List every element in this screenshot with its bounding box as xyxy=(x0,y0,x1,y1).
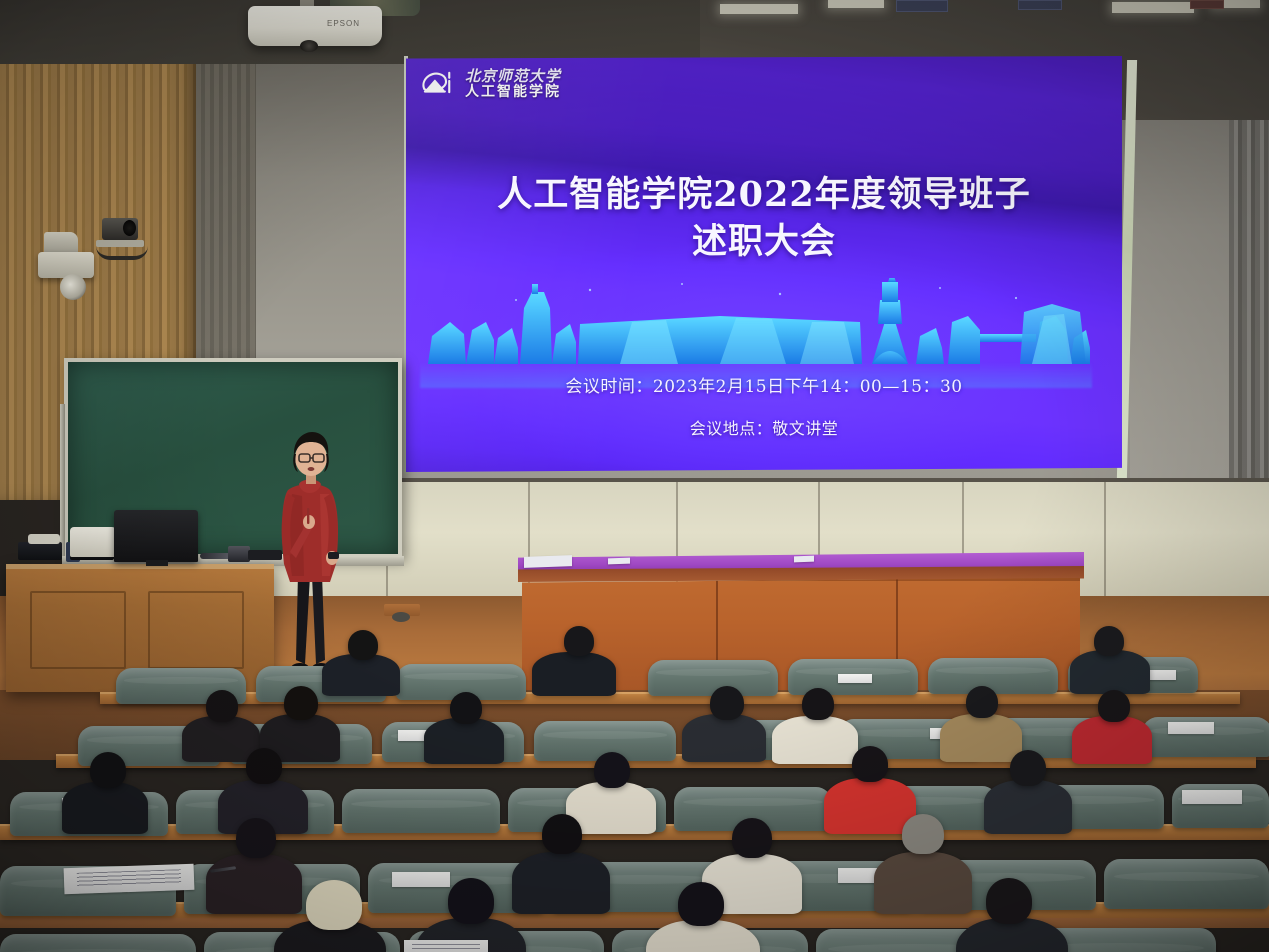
audience-person-head xyxy=(678,882,724,926)
audience-person-head xyxy=(564,626,594,656)
slide-title-line-1: 人工智能学院2022年度领导班子 xyxy=(406,172,1122,219)
audience-person-head xyxy=(802,688,834,720)
audience-person-head xyxy=(852,746,888,782)
audience-person-head xyxy=(246,748,282,784)
handout-paper[interactable] xyxy=(404,940,488,952)
ceiling-vent xyxy=(1190,0,1224,9)
audience-person-head xyxy=(448,878,494,924)
audience-person-head xyxy=(594,752,630,788)
logo-university-name: 北京师范大学 xyxy=(465,69,561,85)
projector-brand-label: EPSON xyxy=(327,19,360,28)
slide-title: 人工智能学院2022年度领导班子 述职大会 xyxy=(406,172,1122,266)
knit-beanie-icon xyxy=(306,880,362,930)
handout-paper[interactable] xyxy=(64,864,195,895)
audience-person xyxy=(62,782,148,834)
ceiling-light xyxy=(1112,2,1194,13)
audience-person xyxy=(206,854,302,914)
projection-screen[interactable]: 北京师范大学 人工智能学院 人工智能学院2022年度领导班子 述职大会 xyxy=(404,56,1126,474)
ceiling-camera-icon xyxy=(38,252,94,278)
desk-phone-handset xyxy=(28,534,60,544)
ceiling-vent xyxy=(896,0,948,12)
audience-person xyxy=(874,852,972,914)
audience-person-head xyxy=(1010,750,1046,786)
audience-person-head xyxy=(450,692,482,724)
audience-person xyxy=(1070,650,1150,694)
lectern-monitor xyxy=(114,510,198,562)
camera-cable xyxy=(96,246,148,260)
audience-person xyxy=(824,778,916,834)
ceiling-light xyxy=(828,0,884,8)
desk-phone-icon xyxy=(18,542,62,560)
lecture-hall-photo: EPSON 北京师 xyxy=(0,0,1269,952)
audience-seating xyxy=(0,640,1269,952)
slide-logo: 北京师范大学 人工智能学院 xyxy=(418,64,561,104)
blackboard-rail xyxy=(60,404,65,556)
meeting-time-text: 会议时间：2023年2月15日下午14：00—15：30 xyxy=(406,372,1122,397)
slide-meta: 会议时间：2023年2月15日下午14：00—15：30 会议地点：敬文讲堂 xyxy=(406,372,1122,439)
camera-bracket xyxy=(44,232,78,254)
meeting-place-text: 会议地点：敬文讲堂 xyxy=(406,415,1122,439)
audience-person-head xyxy=(206,690,238,722)
caster-wheel-icon xyxy=(392,612,410,622)
ceiling-light xyxy=(720,4,798,14)
audience-person xyxy=(940,714,1022,762)
audience-person-head xyxy=(284,686,318,720)
skyline-graphic-icon xyxy=(420,278,1092,364)
audience-person-head xyxy=(542,814,582,854)
audience-person-head xyxy=(966,686,998,718)
bnu-ai-emblem-icon xyxy=(418,64,458,104)
mic-base-icon xyxy=(228,546,250,562)
logo-school-name: 人工智能学院 xyxy=(465,85,561,100)
audience-person-head xyxy=(1098,690,1130,722)
table-paper xyxy=(608,558,630,565)
audience-person-head xyxy=(90,752,126,788)
audience-person xyxy=(532,652,616,696)
audience-person-head xyxy=(1094,626,1124,656)
audience-person xyxy=(682,714,766,762)
wall-camera-icon xyxy=(102,218,138,240)
audience-person xyxy=(512,852,610,914)
audience-person xyxy=(772,716,858,764)
table-paper xyxy=(794,556,814,563)
slide-surface: 北京师范大学 人工智能学院 人工智能学院2022年度领导班子 述职大会 xyxy=(406,56,1122,472)
audience-person xyxy=(984,780,1072,834)
table-paper xyxy=(524,555,572,568)
audience-person-head xyxy=(348,630,378,660)
ceiling-vent xyxy=(1018,0,1062,10)
monitor-stand xyxy=(146,560,168,566)
slide-title-line-2: 述职大会 xyxy=(406,219,1122,266)
audience-person-head xyxy=(710,686,744,720)
projector: EPSON xyxy=(248,6,382,46)
audience-person xyxy=(322,654,400,696)
audience-person-head xyxy=(732,818,772,858)
audience-person xyxy=(424,718,504,764)
printer-icon xyxy=(70,527,116,557)
audience-person xyxy=(1072,716,1152,764)
audience-person-head xyxy=(236,818,276,858)
audience-person-head xyxy=(902,814,944,854)
audience-person-head xyxy=(986,878,1032,924)
